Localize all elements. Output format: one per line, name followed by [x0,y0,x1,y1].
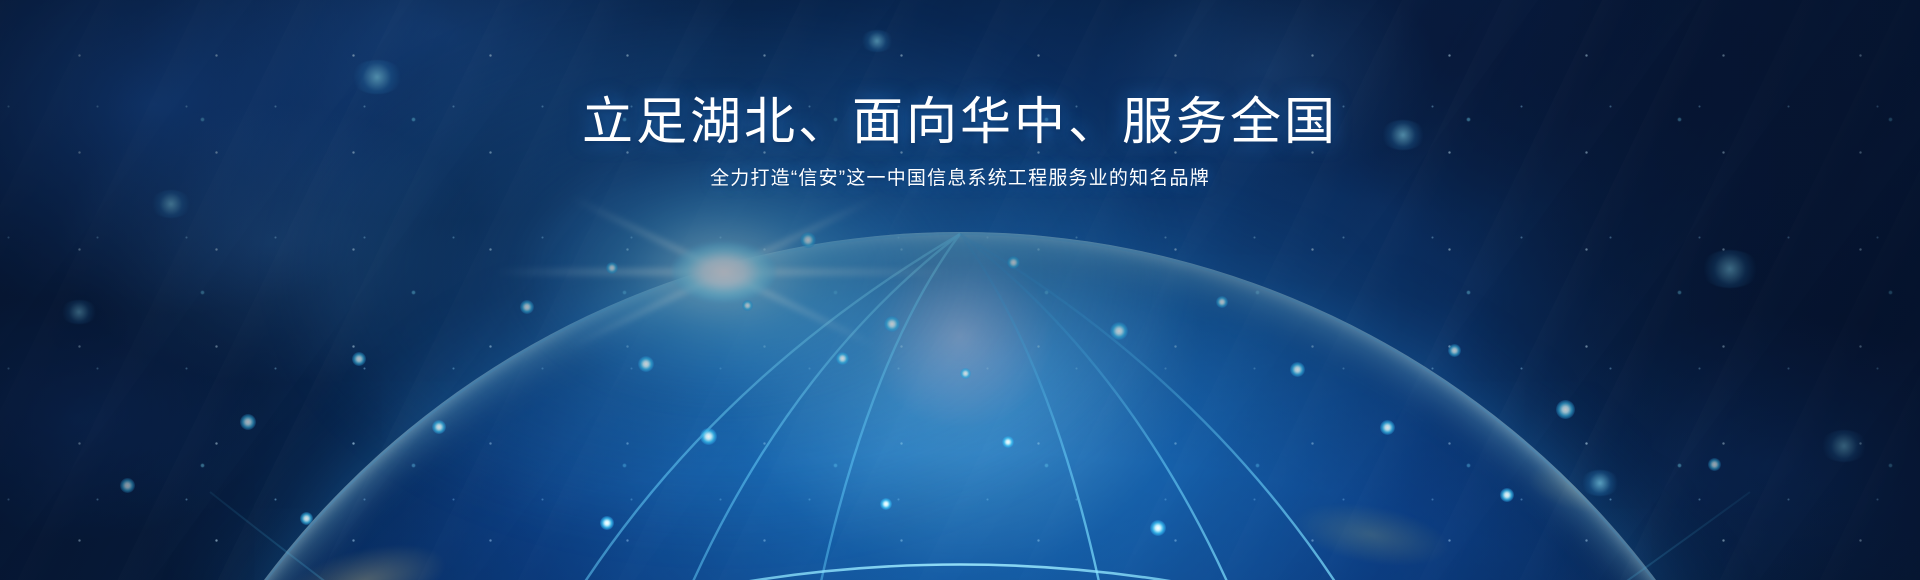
banner-headline: 立足湖北、面向华中、服务全国 [0,92,1920,152]
banner-copy: 立足湖北、面向华中、服务全国 全力打造“信安”这一中国信息系统工程服务业的知名品… [0,92,1920,193]
hero-banner: 立足湖北、面向华中、服务全国 全力打造“信安”这一中国信息系统工程服务业的知名品… [0,0,1920,580]
vignette-overlay [0,0,1920,580]
banner-subheadline: 全力打造“信安”这一中国信息系统工程服务业的知名品牌 [0,166,1920,193]
